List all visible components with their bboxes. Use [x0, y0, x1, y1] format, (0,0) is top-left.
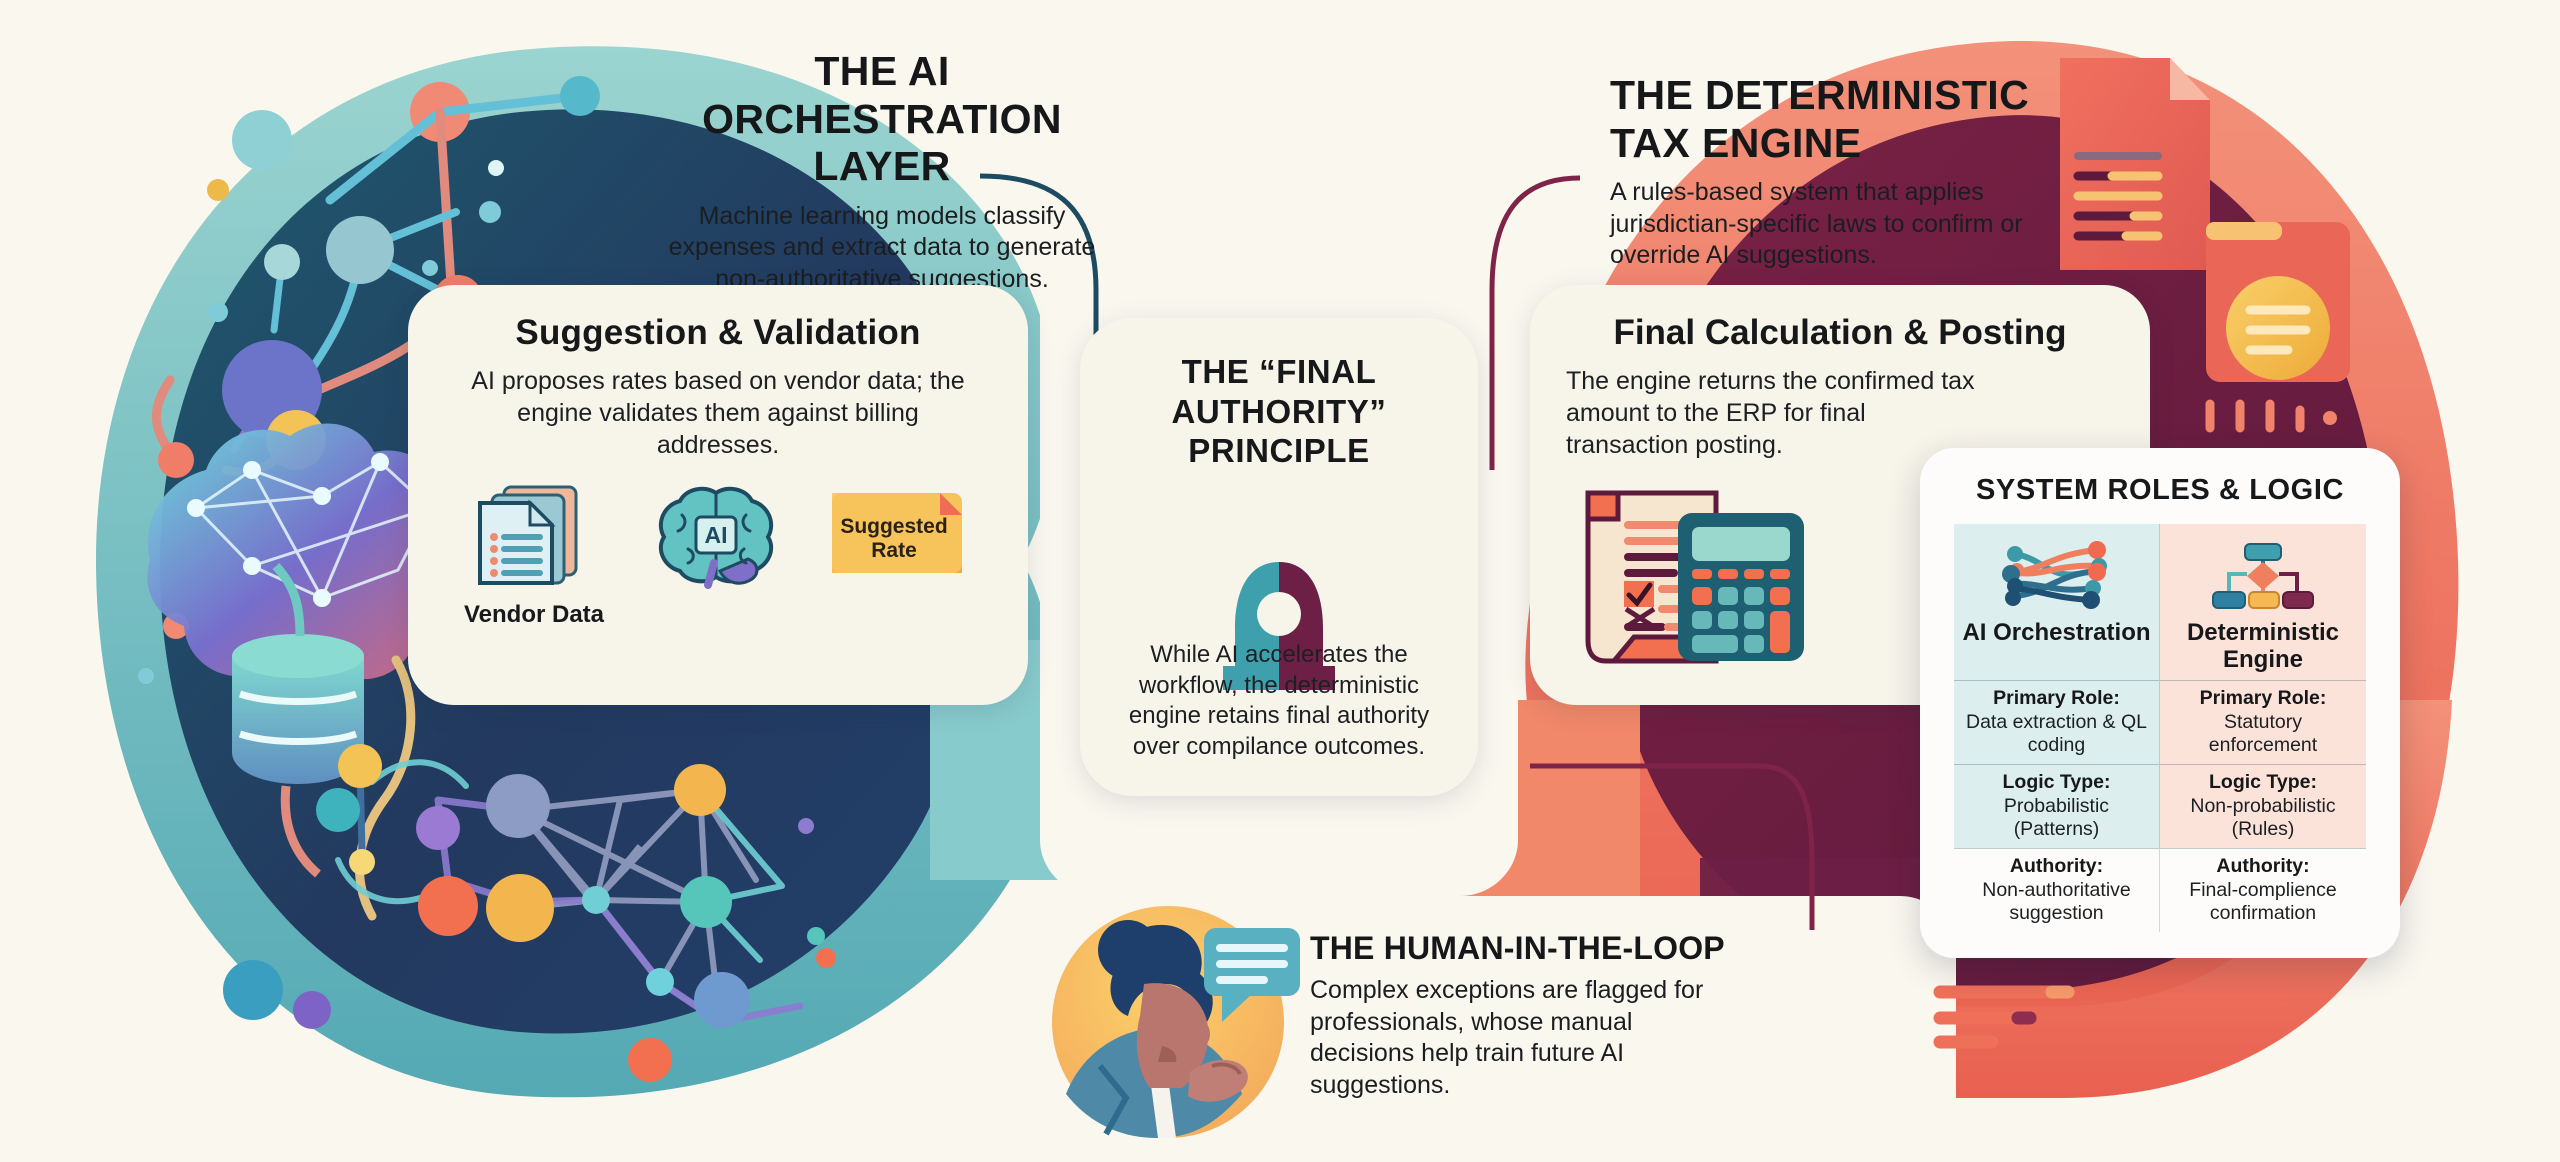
ai-brain-block: AI	[648, 483, 778, 591]
roles-cell-primary-role-engine: Primary Role: Statutory enforcement	[2160, 680, 2366, 764]
roles-col-engine-label: Deterministic Engine	[2168, 620, 2358, 674]
system-roles-title: SYSTEM ROLES & LOGIC	[1920, 474, 2400, 507]
roles-cell-authority-ai: Authority: Non-authoritative suggestion	[1954, 848, 2160, 932]
final-authority-body: While AI accelerates the workflow, the d…	[1106, 640, 1452, 762]
roles-cell-logic-type-ai: Logic Type: Probabilistic (Patterns)	[1954, 764, 2160, 848]
suggested-rate-note-icon: Suggested Rate	[822, 483, 972, 583]
system-roles-logic-card: SYSTEM ROLES & LOGIC	[1920, 448, 2400, 958]
roles-label-authority-ai: Authority:	[2010, 855, 2103, 878]
tax-engine-title: THE DETERMINISTIC TAX ENGINE	[1610, 72, 2030, 167]
receipt-calculator-icon	[1566, 475, 1816, 675]
human-in-the-loop-section: THE HUMAN-IN-THE-LOOP Complex exceptions…	[1310, 930, 1730, 1101]
roles-label-primary-role-engine: Primary Role:	[2200, 687, 2327, 710]
human-in-the-loop-body: Complex exceptions are flagged for profe…	[1310, 975, 1730, 1101]
roles-cell-authority-engine: Authority: Final-complience confirmation	[2160, 848, 2366, 932]
roles-value-primary-role-engine: Statutory enforcement	[2168, 711, 2358, 758]
final-calculation-title: Final Calculation & Posting	[1530, 313, 2150, 353]
vendor-data-block: Vendor Data	[464, 483, 604, 629]
roles-value-authority-ai: Non-authoritative suggestion	[1962, 879, 2151, 926]
roles-label-primary-role-ai: Primary Role:	[1993, 687, 2120, 710]
svg-text:Suggested: Suggested	[840, 515, 947, 538]
svg-text:AI: AI	[705, 522, 728, 548]
ai-layer-banner: THE AI ORCHESTRATION LAYER Machine learn…	[662, 48, 1102, 295]
suggested-rate-block: Suggested Rate	[822, 483, 972, 583]
final-authority-card: THE “FINAL AUTHORITY” PRINCIPLE While AI…	[1080, 318, 1478, 796]
ai-layer-description: Machine learning models classify expense…	[662, 201, 1102, 296]
infographic-canvas: THE AI ORCHESTRATION LAYER Machine learn…	[0, 0, 2560, 1162]
network-lines-icon	[1997, 536, 2117, 614]
roles-col-ai-label: AI Orchestration	[1962, 620, 2150, 647]
roles-value-primary-role-ai: Data extraction & QL coding	[1962, 711, 2151, 758]
final-calculation-body: The engine returns the confirmed tax amo…	[1566, 365, 1986, 461]
tax-engine-description: A rules-based system that applies jurisd…	[1610, 177, 2030, 272]
suggestion-validation-body: AI proposes rates based on vendor data; …	[454, 365, 982, 461]
roles-value-logic-type-engine: Non-probabilistic (Rules)	[2168, 795, 2358, 842]
roles-label-logic-type-engine: Logic Type:	[2209, 771, 2317, 794]
suggestion-validation-card: Suggestion & Validation AI proposes rate…	[408, 285, 1028, 705]
roles-cell-logic-type-engine: Logic Type: Non-probabilistic (Rules)	[2160, 764, 2366, 848]
suggestion-icon-row: Vendor Data AI	[408, 483, 1028, 633]
roles-label-logic-type-ai: Logic Type:	[2003, 771, 2111, 794]
system-roles-table: AI Orchestration	[1954, 524, 2366, 932]
roles-label-authority-engine: Authority:	[2216, 855, 2309, 878]
human-in-the-loop-title: THE HUMAN-IN-THE-LOOP	[1310, 930, 1730, 967]
final-authority-title: THE “FINAL AUTHORITY” PRINCIPLE	[1080, 352, 1478, 471]
flowchart-nodes-icon	[2203, 536, 2323, 614]
roles-col-ai-header: AI Orchestration	[1954, 524, 2160, 680]
ai-brain-icon: AI	[648, 483, 778, 591]
professional-with-speech-bubble-icon	[1040, 898, 1300, 1148]
documents-stack-icon	[474, 483, 594, 591]
tax-engine-banner: THE DETERMINISTIC TAX ENGINE A rules-bas…	[1610, 72, 2030, 272]
svg-text:Rate: Rate	[871, 539, 917, 562]
roles-cell-primary-role-ai: Primary Role: Data extraction & QL codin…	[1954, 680, 2160, 764]
roles-col-engine-header: Deterministic Engine	[2160, 524, 2366, 680]
vendor-data-caption: Vendor Data	[464, 601, 604, 629]
roles-value-authority-engine: Final-complience confirmation	[2168, 879, 2358, 926]
roles-value-logic-type-ai: Probabilistic (Patterns)	[1962, 795, 2151, 842]
ai-layer-title: THE AI ORCHESTRATION LAYER	[662, 48, 1102, 191]
suggestion-validation-title: Suggestion & Validation	[408, 313, 1028, 353]
